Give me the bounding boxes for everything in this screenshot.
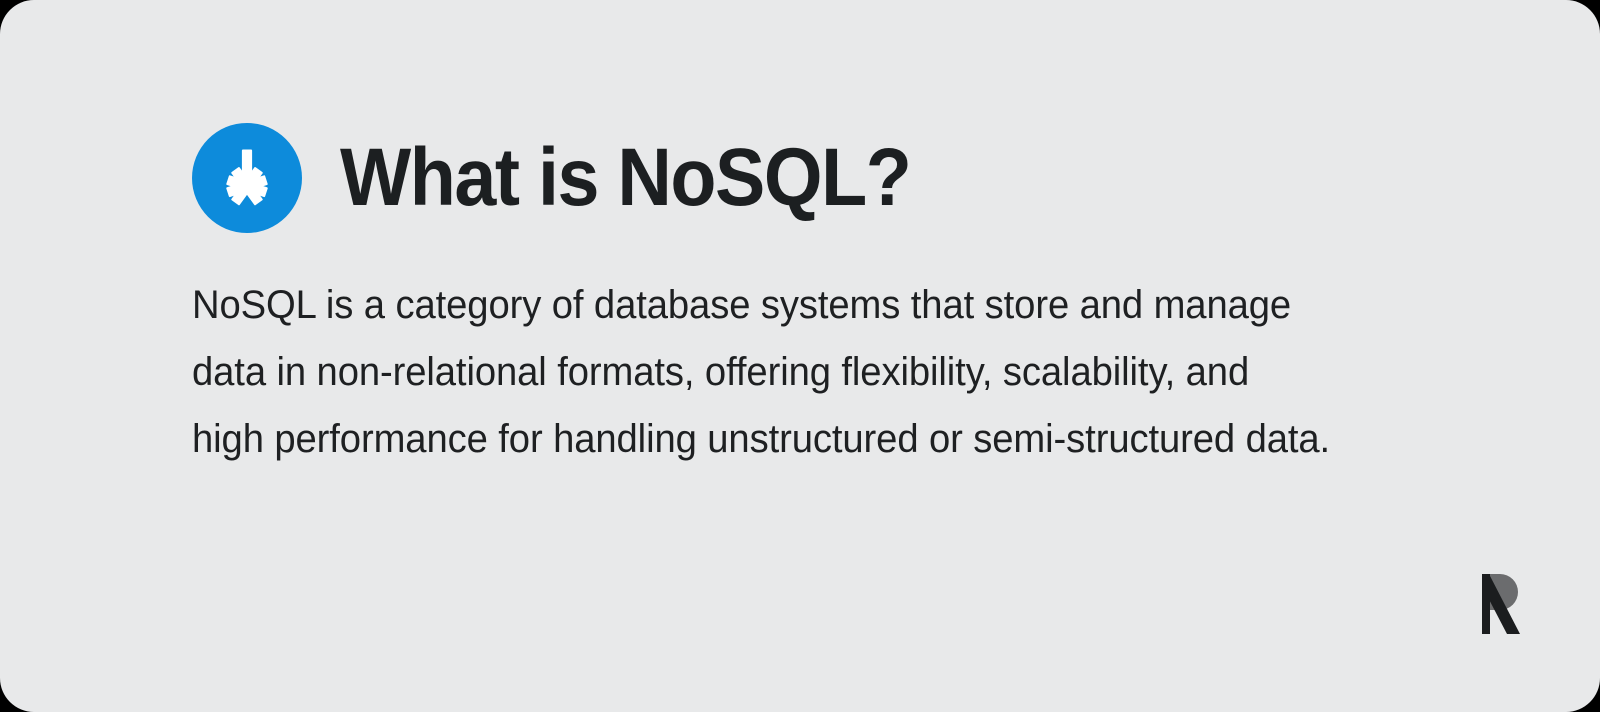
- page-title: What is NoSQL?: [340, 137, 910, 219]
- card-description: NoSQL is a category of database systems …: [192, 272, 1330, 473]
- asterisk-icon: [192, 123, 302, 233]
- card-content: What is NoSQL? NoSQL is a category of da…: [192, 0, 1412, 712]
- card-header: What is NoSQL?: [192, 118, 960, 238]
- letter-r-logo: [1476, 570, 1522, 634]
- info-card: What is NoSQL? NoSQL is a category of da…: [0, 0, 1600, 712]
